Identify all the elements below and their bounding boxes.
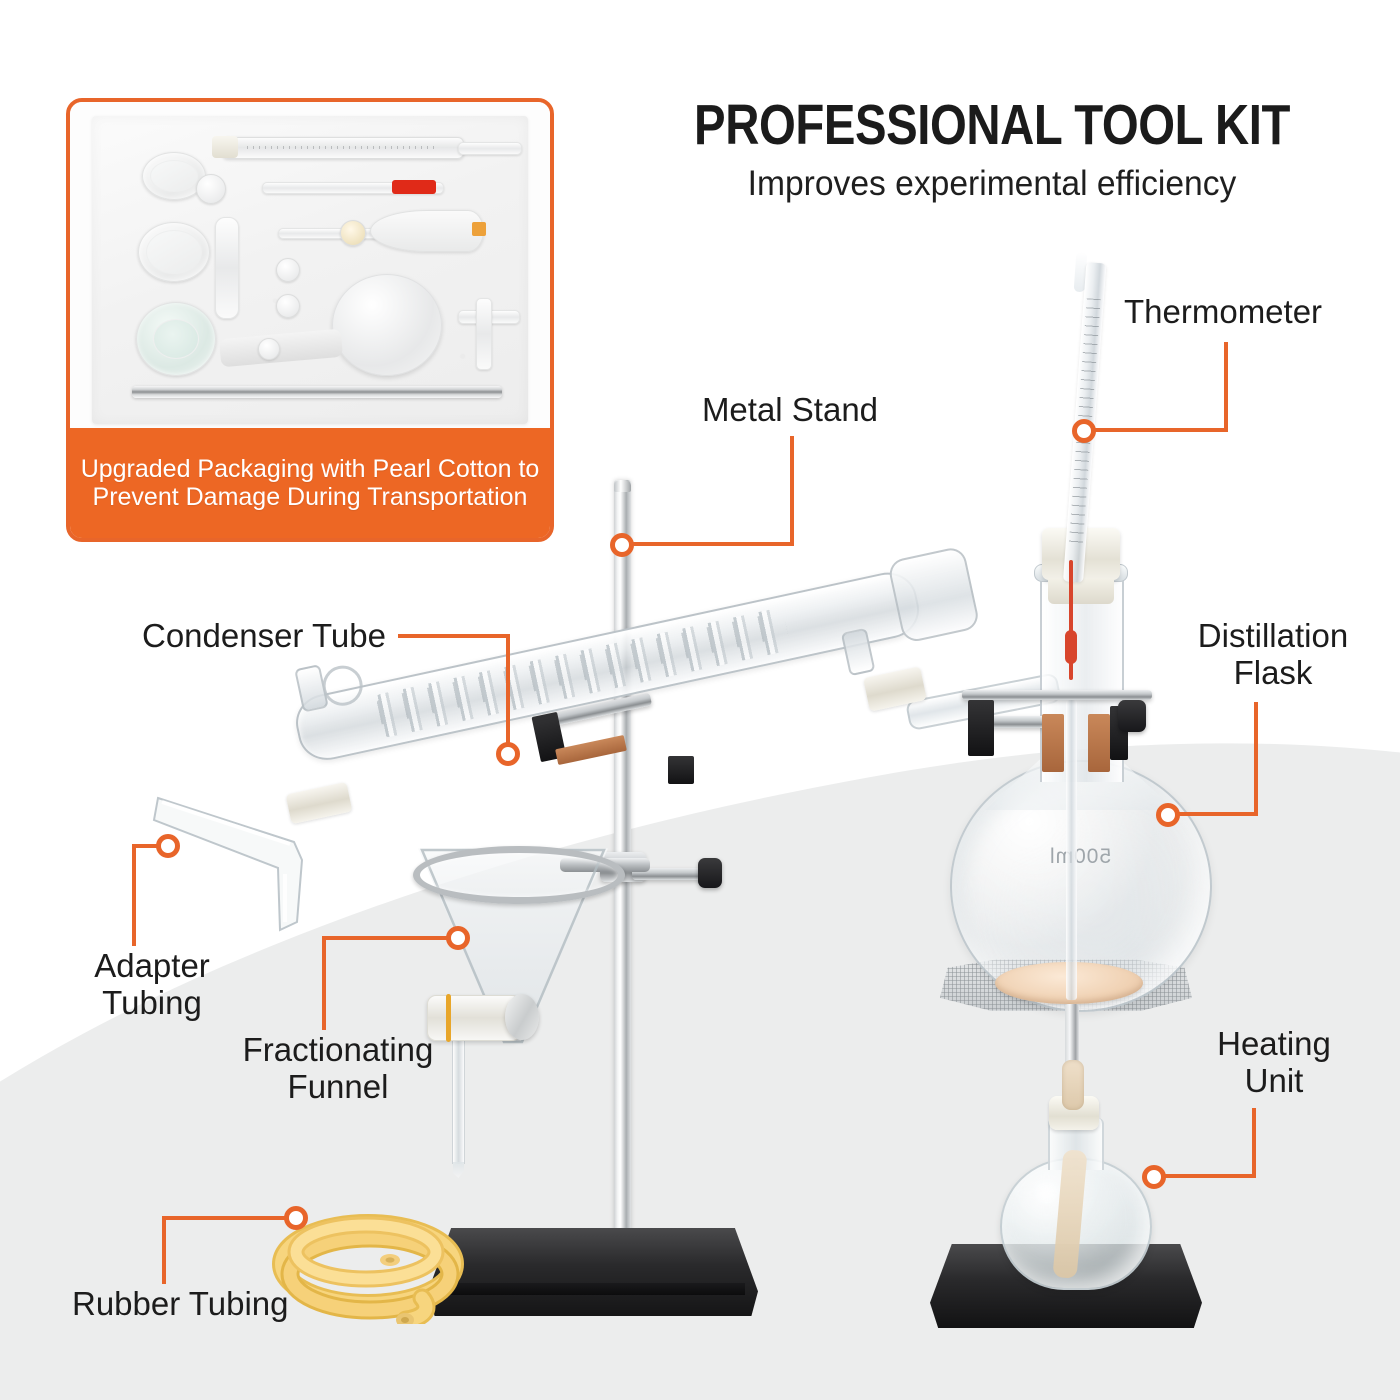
thermometer-cork-item [212, 136, 238, 158]
glass-joint-item-1 [276, 258, 300, 282]
leader-condenser-vertical [506, 634, 510, 750]
packaging-caption: Upgraded Packaging with Pearl Cotton to … [70, 428, 550, 538]
condenser-inlet-port [294, 664, 329, 713]
red-stopper-item [392, 180, 436, 194]
marker-metal-stand [610, 533, 634, 557]
page-title: PROFESSIONAL TOOL KIT [677, 96, 1308, 154]
leader-heating-horizontal [1162, 1174, 1256, 1178]
marker-fractionating-funnel [446, 926, 470, 950]
marker-distillation-flask [1156, 803, 1180, 827]
page-subtitle: Improves experimental efficiency [627, 164, 1357, 204]
callout-label-thermometer: Thermometer [1124, 294, 1384, 331]
leader-thermometer-horizontal [1090, 428, 1228, 432]
tee-adapter-stem-item [476, 298, 492, 370]
packaging-inset-card: Upgraded Packaging with Pearl Cotton to … [66, 98, 554, 542]
flask-inner-stem [1066, 700, 1077, 1000]
callout-label-adapter-tubing: Adapter Tubing [42, 948, 262, 1022]
callout-label-condenser-tube: Condenser Tube [88, 618, 386, 655]
packaging-photo [70, 102, 550, 436]
callout-label-rubber-tubing: Rubber Tubing [72, 1286, 372, 1323]
header-block: PROFESSIONAL TOOL KIT Improves experimen… [612, 96, 1372, 204]
lower-clamp-knob [698, 858, 722, 888]
marker-adapter-tubing [156, 834, 180, 858]
leader-flask-horizontal [1176, 812, 1258, 816]
thermometer-item [222, 137, 464, 159]
leader-adapter-vertical [132, 848, 136, 946]
leader-flask-vertical [1254, 702, 1258, 816]
flask-clamp-left-jaw [968, 700, 994, 756]
marker-thermometer [1072, 419, 1096, 443]
thermometer-stem-item [458, 142, 522, 155]
flask-clamp-bar [962, 690, 1152, 700]
funnel-orange-clip-item [472, 222, 486, 236]
callout-label-fractionating-funnel: Fractionating Funnel [198, 1032, 478, 1106]
flask-clamp-cork-left [1042, 714, 1064, 772]
stopcock-valve-item [340, 220, 366, 246]
leader-rubber-horizontal [162, 1216, 290, 1220]
leader-condenser-horizontal [398, 634, 510, 638]
flask-volume-marking: 500ml [1020, 845, 1140, 869]
leader-heating-vertical [1252, 1108, 1256, 1178]
leader-metal-stand-vertical [790, 436, 794, 546]
round-bottom-flask-item [332, 274, 442, 376]
marker-heating-unit [1142, 1165, 1166, 1189]
stand-collar-upper [668, 756, 694, 784]
condenser-tube-item [215, 217, 239, 319]
metal-rod-item [132, 386, 502, 398]
funnel-stopcock-handle [505, 994, 539, 1040]
flask-clip-item [258, 338, 280, 360]
flask-clamp-cork-right [1088, 714, 1110, 772]
thermometer-bulb [1065, 630, 1077, 664]
condenser-neck [887, 545, 981, 644]
glass-joint-item-2 [276, 294, 300, 318]
separatory-funnel-item [370, 210, 484, 252]
callout-label-heating-unit: Heating Unit [1168, 1026, 1380, 1100]
callout-label-metal-stand: Metal Stand [672, 392, 908, 429]
leader-funnel-vertical [322, 938, 326, 1030]
infographic-canvas: PROFESSIONAL TOOL KIT Improves experimen… [0, 0, 1400, 1400]
lamp-wick-top [1062, 1060, 1084, 1110]
small-stopper-item [196, 174, 226, 204]
leader-funnel-horizontal [322, 936, 452, 940]
beaker-top-item [136, 302, 216, 376]
metal-stand-base [428, 1228, 758, 1316]
leader-metal-stand-horizontal [630, 542, 794, 546]
petri-dish-item [138, 222, 210, 282]
leader-thermometer-vertical [1224, 342, 1228, 432]
flask-clamp-knob [1118, 700, 1146, 732]
funnel-support-ring [413, 846, 625, 904]
callout-label-distillation-flask: Distillation Flask [1158, 618, 1388, 692]
leader-rubber-vertical [162, 1218, 166, 1284]
marker-condenser-tube [496, 742, 520, 766]
marker-rubber-tubing [284, 1206, 308, 1230]
